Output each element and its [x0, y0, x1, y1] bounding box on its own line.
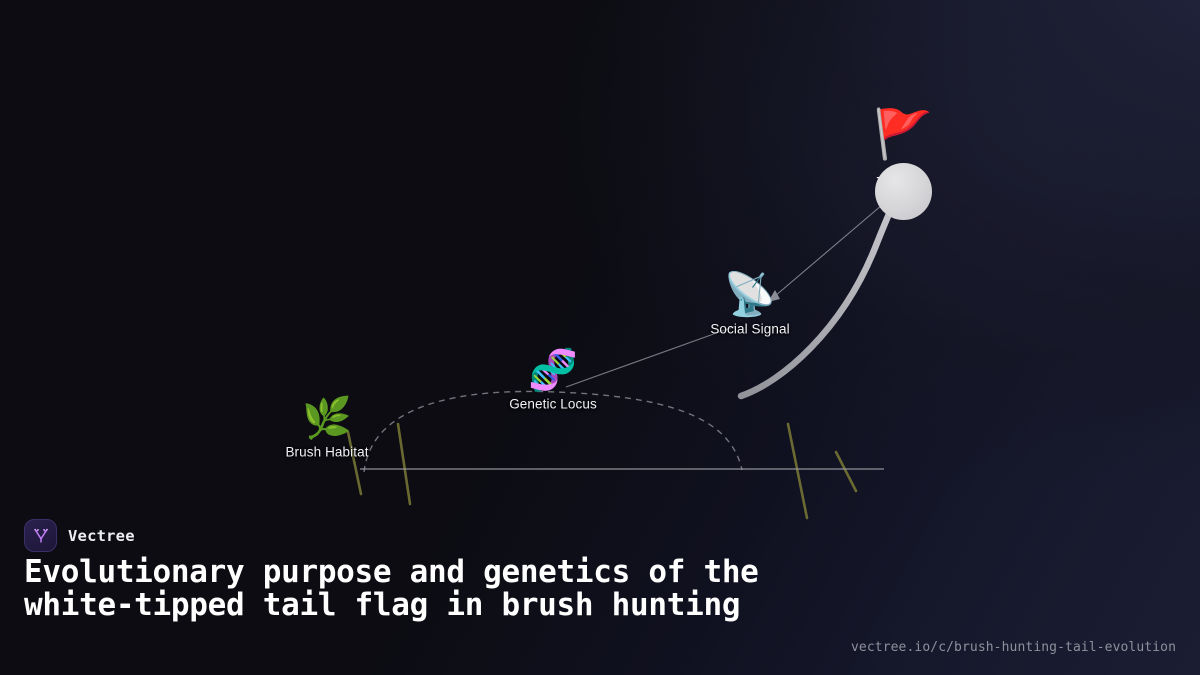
page-title: Evolutionary purpose and genetics of the… — [24, 556, 844, 623]
node-brush-habitat-label: Brush Habitat — [285, 445, 368, 460]
satellite-dish-icon: 📡 — [724, 274, 776, 316]
triangular-flag-icon: 🚩 — [873, 111, 933, 159]
node-social-signal[interactable]: 📡 Social Signal — [710, 274, 789, 337]
node-genetic-locus-label: Genetic Locus — [509, 397, 597, 412]
dna-icon: 🧬 — [528, 351, 578, 391]
brand[interactable]: Vectree — [24, 519, 135, 552]
page-url: vectree.io/c/brush-hunting-tail-evolutio… — [851, 640, 1176, 655]
brand-name: Vectree — [68, 527, 135, 545]
card-footer: Vectree Evolutionary purpose and genetic… — [0, 510, 1200, 675]
tail-flag-disc — [875, 163, 932, 220]
vectree-tree-mark-icon — [24, 519, 57, 552]
node-genetic-locus[interactable]: 🧬 Genetic Locus — [509, 351, 597, 412]
node-brush-habitat[interactable]: 🌿 Brush Habitat — [285, 399, 368, 460]
herb-leaf-icon: 🌿 — [302, 399, 352, 439]
grass-blades-right — [788, 424, 856, 518]
node-social-signal-label: Social Signal — [710, 322, 789, 337]
vectree-concept-card: 🚩 Tail Flag 📡 Social Signal 🧬 Genetic Lo… — [0, 0, 1200, 675]
